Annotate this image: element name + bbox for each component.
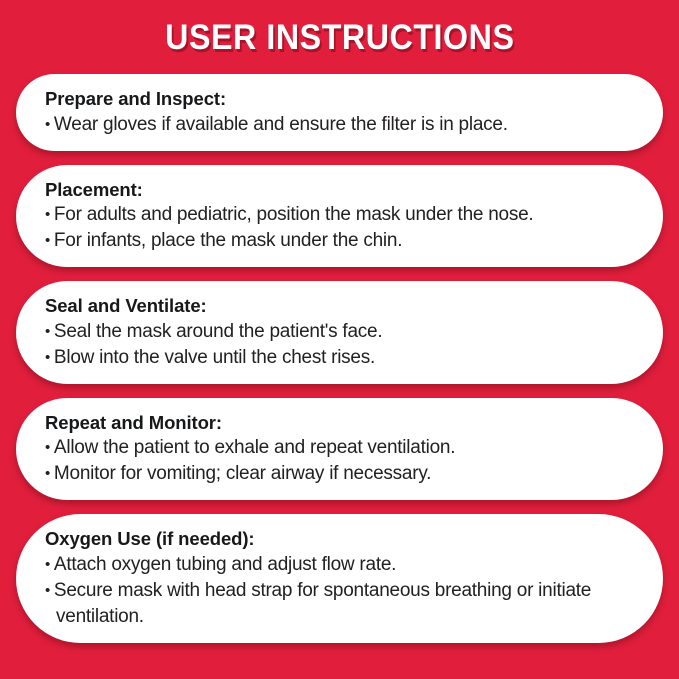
instruction-card: Oxygen Use (if needed): Attach oxygen tu… — [16, 514, 663, 643]
instruction-card-heading: Seal and Ventilate: — [45, 293, 633, 319]
list-item: Blow into the valve until the chest rise… — [45, 345, 633, 371]
instruction-card-heading: Prepare and Inspect: — [45, 86, 633, 112]
instruction-card: Repeat and Monitor: Allow the patient to… — [16, 398, 663, 501]
instruction-card-heading: Repeat and Monitor: — [45, 410, 633, 436]
instruction-card: Seal and Ventilate: Seal the mask around… — [16, 281, 663, 384]
list-item: Monitor for vomiting; clear airway if ne… — [45, 461, 633, 487]
instruction-bullet-list: Allow the patient to exhale and repeat v… — [45, 435, 633, 487]
list-item: Wear gloves if available and ensure the … — [45, 112, 633, 138]
instruction-card: Prepare and Inspect: Wear gloves if avai… — [16, 74, 663, 151]
page-title: USER INSTRUCTIONS — [165, 20, 514, 55]
instructions-poster: USER INSTRUCTIONS Prepare and Inspect: W… — [0, 0, 679, 679]
list-item: Attach oxygen tubing and adjust flow rat… — [45, 552, 633, 578]
list-item: Secure mask with head strap for spontane… — [45, 578, 633, 630]
instruction-bullet-list: For adults and pediatric, position the m… — [45, 202, 633, 254]
instruction-bullet-list: Attach oxygen tubing and adjust flow rat… — [45, 552, 633, 630]
instruction-bullet-list: Wear gloves if available and ensure the … — [45, 112, 633, 138]
list-item: For adults and pediatric, position the m… — [45, 202, 633, 228]
list-item: Allow the patient to exhale and repeat v… — [45, 435, 633, 461]
poster-title-area: USER INSTRUCTIONS — [16, 0, 663, 74]
instruction-card-heading: Oxygen Use (if needed): — [45, 526, 633, 552]
instruction-card-list: Prepare and Inspect: Wear gloves if avai… — [16, 74, 663, 679]
list-item: Seal the mask around the patient's face. — [45, 319, 633, 345]
list-item: For infants, place the mask under the ch… — [45, 228, 633, 254]
instruction-card: Placement: For adults and pediatric, pos… — [16, 165, 663, 268]
instruction-bullet-list: Seal the mask around the patient's face.… — [45, 319, 633, 371]
instruction-card-heading: Placement: — [45, 177, 633, 203]
